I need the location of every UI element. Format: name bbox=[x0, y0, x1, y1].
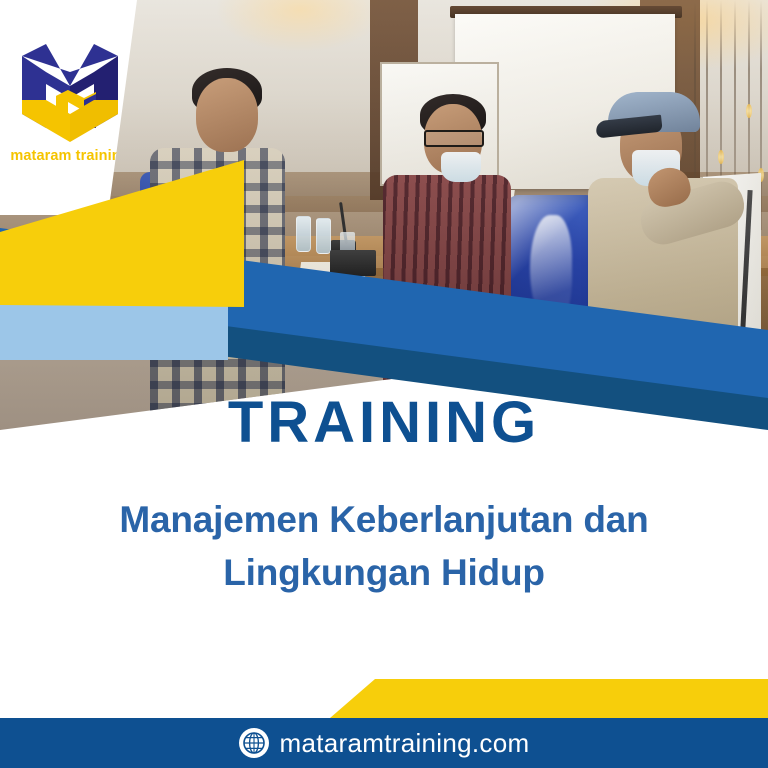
mataram-m-logo-icon bbox=[16, 42, 124, 146]
water-bottle bbox=[296, 216, 311, 252]
water-bottle bbox=[316, 218, 331, 254]
footer-bar: mataramtraining.com bbox=[0, 718, 768, 768]
globe-icon bbox=[239, 728, 269, 758]
logo-wordmark: mataram training bbox=[8, 148, 132, 164]
website-url[interactable]: mataramtraining.com bbox=[280, 728, 530, 759]
desk-equipment bbox=[330, 250, 376, 276]
page-subtitle: Manajemen Keberlanjutan dan Lingkungan H… bbox=[54, 494, 714, 599]
page-title: TRAINING bbox=[0, 394, 768, 452]
promo-poster: mataram training TRAINING Manajemen Kebe… bbox=[0, 0, 768, 768]
